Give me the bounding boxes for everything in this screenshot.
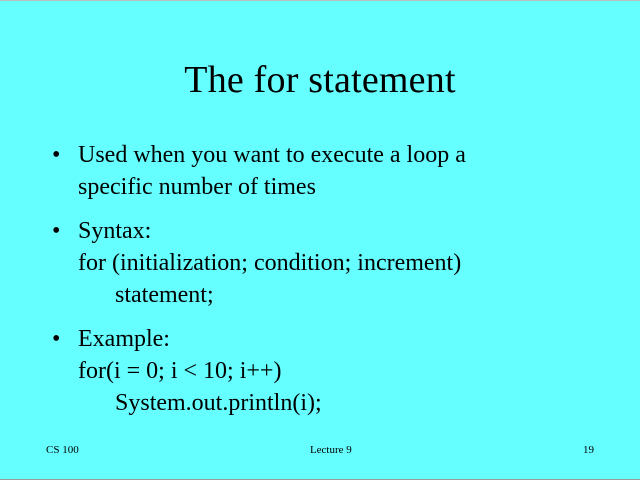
bullet-item-3: • Example: for(i = 0; i < 10; i++) Syste… xyxy=(52,323,608,419)
code-line-example-statement: System.out.println(i); xyxy=(78,387,608,419)
slide-body: • Used when you want to execute a loop a… xyxy=(52,139,608,419)
bullet-marker-icon: • xyxy=(52,215,78,247)
bullet-line: Syntax: xyxy=(78,215,608,247)
bullet-marker-icon: • xyxy=(52,139,78,171)
bullet-marker-icon: • xyxy=(52,323,78,355)
bullet-item-3-lines: Example: for(i = 0; i < 10; i++) System.… xyxy=(78,323,608,419)
bullet-item-1: • Used when you want to execute a loop a… xyxy=(52,139,608,203)
code-line-example: for(i = 0; i < 10; i++) xyxy=(78,355,608,387)
bullet-item-2: • Syntax: for (initialization; condition… xyxy=(52,215,608,311)
footer-slide-number: 19 xyxy=(583,443,594,457)
presentation-slide: The for statement • Used when you want t… xyxy=(0,0,640,480)
code-line-syntax-statement: statement; xyxy=(78,279,608,311)
bullet-line: Used when you want to execute a loop a xyxy=(78,139,608,171)
bullet-item-2-lines: Syntax: for (initialization; condition; … xyxy=(78,215,608,311)
code-line-syntax: for (initialization; condition; incremen… xyxy=(78,247,608,279)
bullet-line: specific number of times xyxy=(78,171,608,203)
bullet-line: Example: xyxy=(78,323,608,355)
page-title: The for statement xyxy=(0,58,640,102)
footer-lecture-label: Lecture 9 xyxy=(79,443,583,457)
slide-footer: CS 100 Lecture 9 19 xyxy=(46,441,594,459)
footer-course-label: CS 100 xyxy=(46,443,79,457)
bullet-item-1-lines: Used when you want to execute a loop a s… xyxy=(78,139,608,203)
